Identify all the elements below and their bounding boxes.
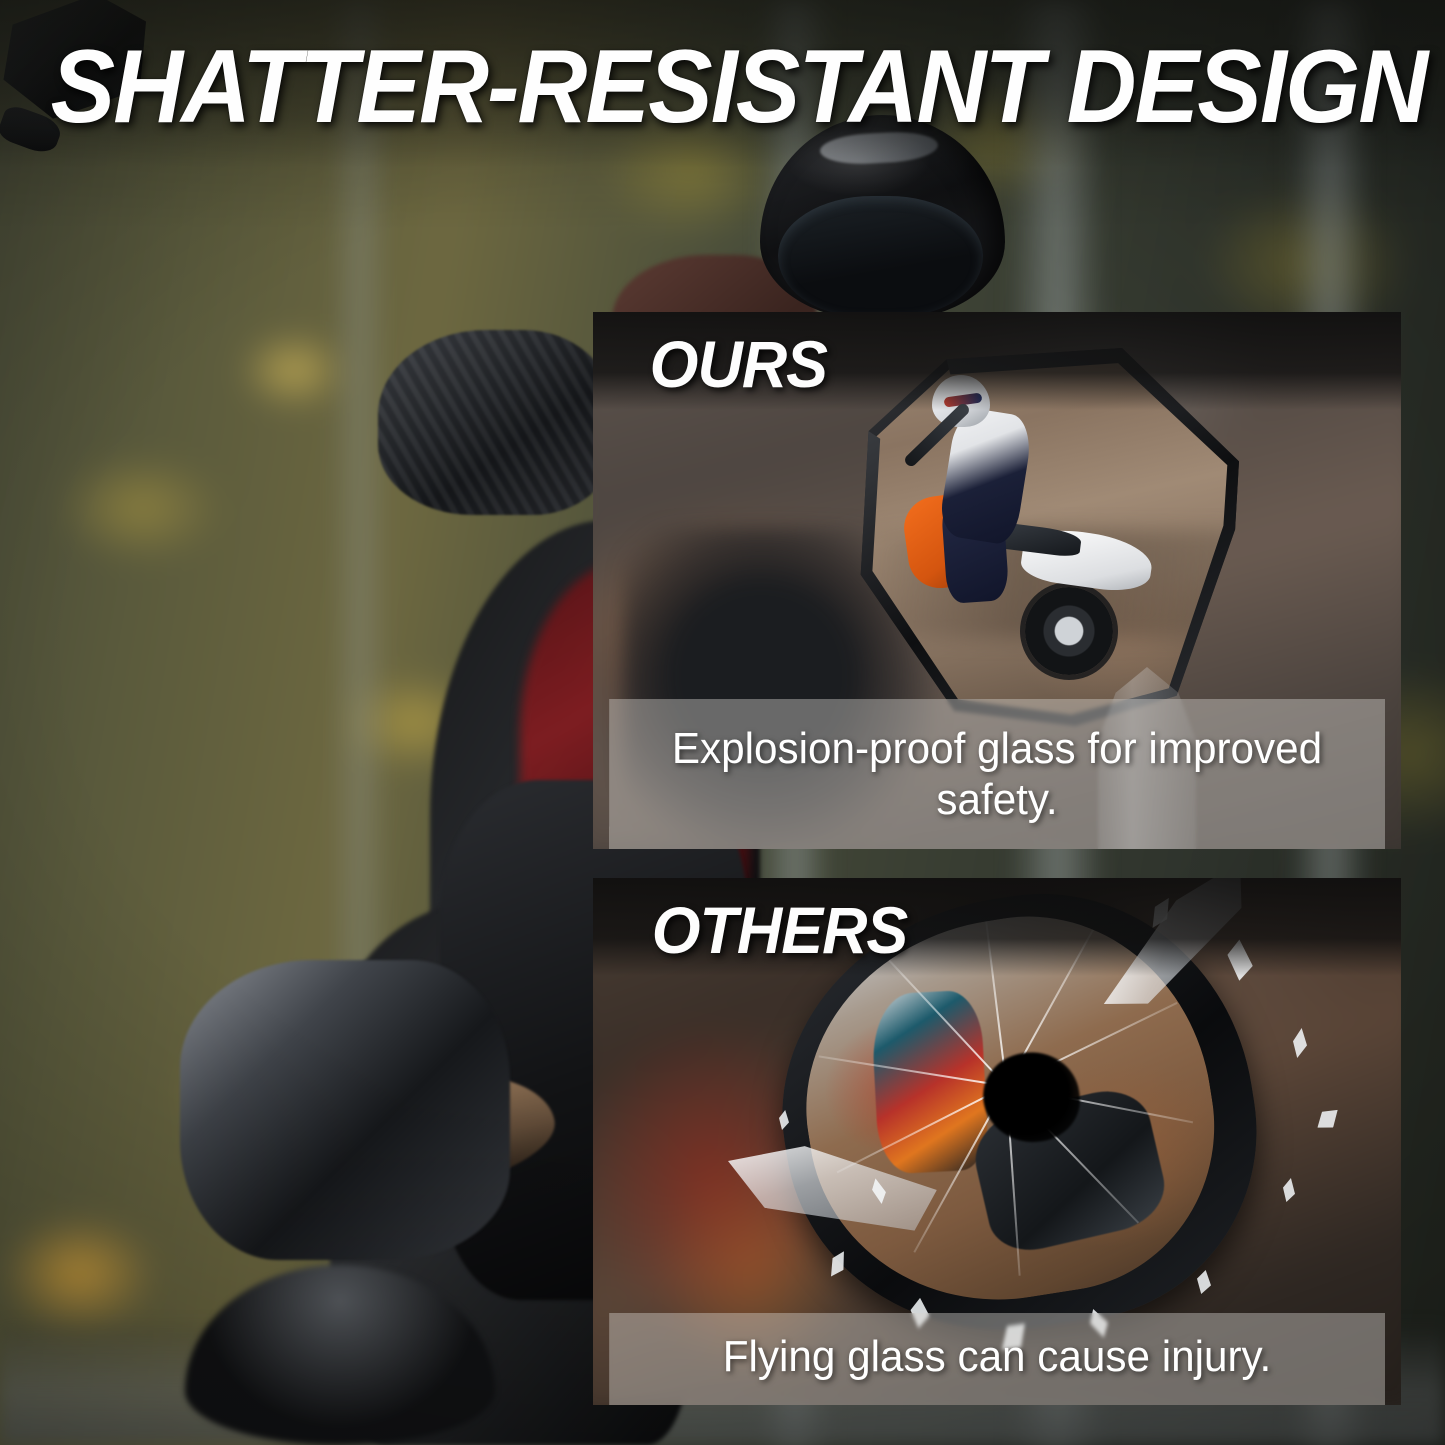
caption-ours: Explosion-proof glass for improved safet… xyxy=(609,699,1385,849)
helmet-visor xyxy=(778,196,983,316)
comparison-panel-others: OTHERS Flying glass can cause injury. xyxy=(593,878,1401,1405)
product-comparison-image: SHATTER-RESISTANT DESIGN OURS Explosi xyxy=(0,0,1445,1445)
page-title: SHATTER-RESISTANT DESIGN xyxy=(51,28,1395,147)
reflected-bike-wheel xyxy=(1025,587,1113,675)
panel-label-others: OTHERS xyxy=(652,892,908,968)
rider-boot xyxy=(180,960,510,1260)
caption-others: Flying glass can cause injury. xyxy=(609,1313,1385,1405)
panel-label-ours: OURS xyxy=(650,326,827,402)
comparison-panel-ours: OURS Explosion-proof glass for improved … xyxy=(593,312,1401,849)
rider-glove xyxy=(378,330,613,515)
